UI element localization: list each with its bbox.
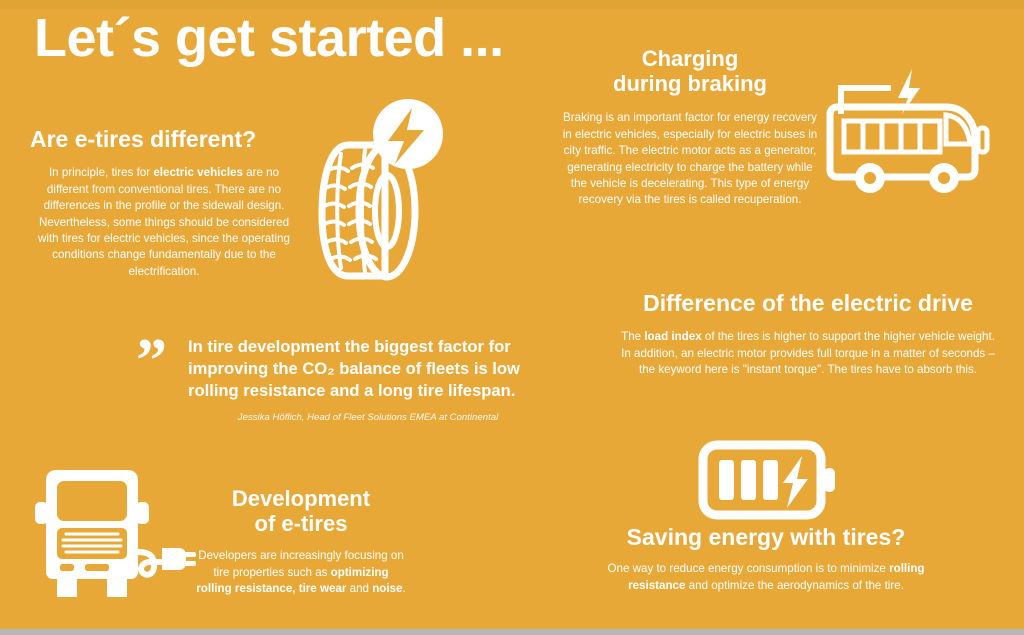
heading-line-1: Charging	[642, 46, 739, 71]
heading-line-1: Development	[232, 486, 370, 511]
section-body-drive: The load index of the tires is higher to…	[616, 329, 1000, 378]
heading-line-2: of e-tires	[255, 511, 348, 536]
section-body-development: Developers are increasingly focusing on …	[196, 548, 406, 597]
section-charging-during-braking: Charging during braking Braking is an im…	[560, 46, 820, 209]
section-heading-tires: Are e-tires different?	[30, 126, 298, 152]
section-body-charging: Braking is an important factor for energ…	[560, 110, 820, 209]
quote-text: In tire development the biggest factor f…	[188, 336, 548, 403]
infographic-poster: Let´s get started ... Are e-tires differ…	[0, 0, 1024, 635]
electric-truck-charging-icon	[32, 468, 197, 600]
section-heading-saving: Saving energy with tires?	[600, 524, 932, 550]
pull-quote: ” In tire development the biggest factor…	[136, 336, 548, 423]
electric-bus-icon	[818, 66, 998, 196]
section-body-tires: In principle, tires for electric vehicle…	[30, 165, 298, 280]
section-body-saving: One way to reduce energy consumption is …	[600, 561, 932, 594]
battery-with-lightning-icon	[698, 438, 838, 522]
bottom-edge-bar	[0, 629, 1024, 635]
section-heading-development: Development of e-tires	[196, 486, 406, 536]
section-heading-drive: Difference of the electric drive	[616, 290, 1000, 316]
quote-attribution: Jessika Höflich, Head of Fleet Solutions…	[188, 412, 548, 423]
section-are-e-tires-different: Are e-tires different? In principle, tir…	[30, 126, 298, 280]
section-difference-electric-drive: Difference of the electric drive The loa…	[616, 290, 1000, 379]
page-title: Let´s get started ...	[34, 8, 504, 68]
section-saving-energy-with-tires: Saving energy with tires? One way to red…	[600, 524, 932, 594]
quotation-mark-icon: ”	[136, 330, 167, 392]
section-heading-charging: Charging during braking	[560, 46, 820, 96]
section-development-of-e-tires: Development of e-tires Developers are in…	[196, 486, 406, 598]
tire-with-lightning-icon	[300, 96, 446, 282]
heading-line-2: during braking	[613, 71, 767, 96]
